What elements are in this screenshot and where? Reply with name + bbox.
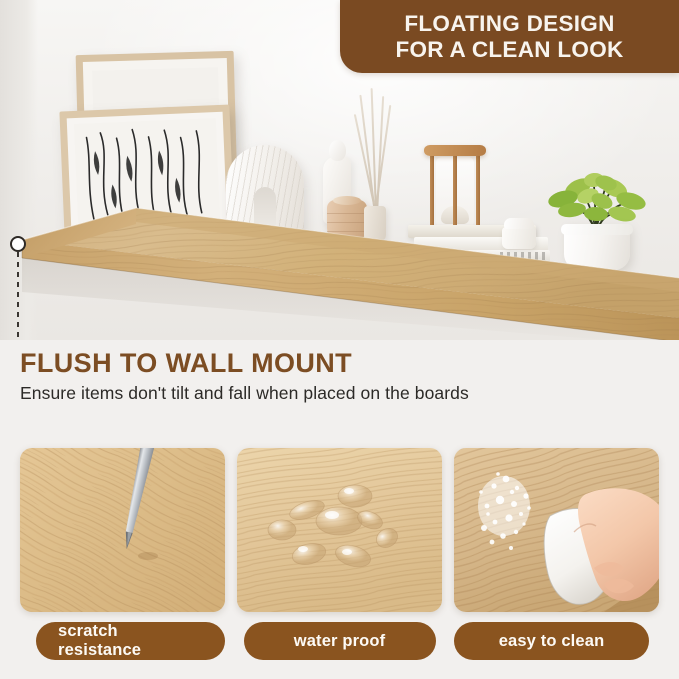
floating-design-banner: FLOATING DESIGN FOR A CLEAN LOOK bbox=[340, 0, 679, 73]
metal-tool-tip-on-wood-image bbox=[20, 448, 225, 612]
feature-badges: scratch resistance water proof easy to c… bbox=[20, 622, 659, 660]
feature-panels bbox=[20, 448, 659, 612]
feature-panel-clean bbox=[454, 448, 659, 612]
hand-wiping-powder-image bbox=[454, 448, 659, 612]
banner-line-1: FLOATING DESIGN bbox=[404, 11, 614, 37]
callout-dashed-line bbox=[17, 252, 19, 340]
water-droplets-on-wood-image bbox=[237, 448, 442, 612]
badge-scratch-resistance[interactable]: scratch resistance bbox=[36, 622, 225, 660]
feature-panel-water bbox=[237, 448, 442, 612]
banner-line-2: FOR A CLEAN LOOK bbox=[395, 37, 623, 63]
feature-panel-scratch bbox=[20, 448, 225, 612]
page-title: FLUSH TO WALL MOUNT bbox=[20, 348, 352, 379]
callout-dot-marker bbox=[10, 236, 26, 252]
floating-wood-shelf bbox=[0, 196, 679, 340]
badge-water-proof[interactable]: water proof bbox=[244, 622, 436, 660]
page-subtitle: Ensure items don't tilt and fall when pl… bbox=[20, 383, 469, 404]
badge-easy-to-clean[interactable]: easy to clean bbox=[454, 622, 649, 660]
product-feature-image: FLOATING DESIGN FOR A CLEAN LOOK FLUSH T… bbox=[0, 0, 679, 679]
